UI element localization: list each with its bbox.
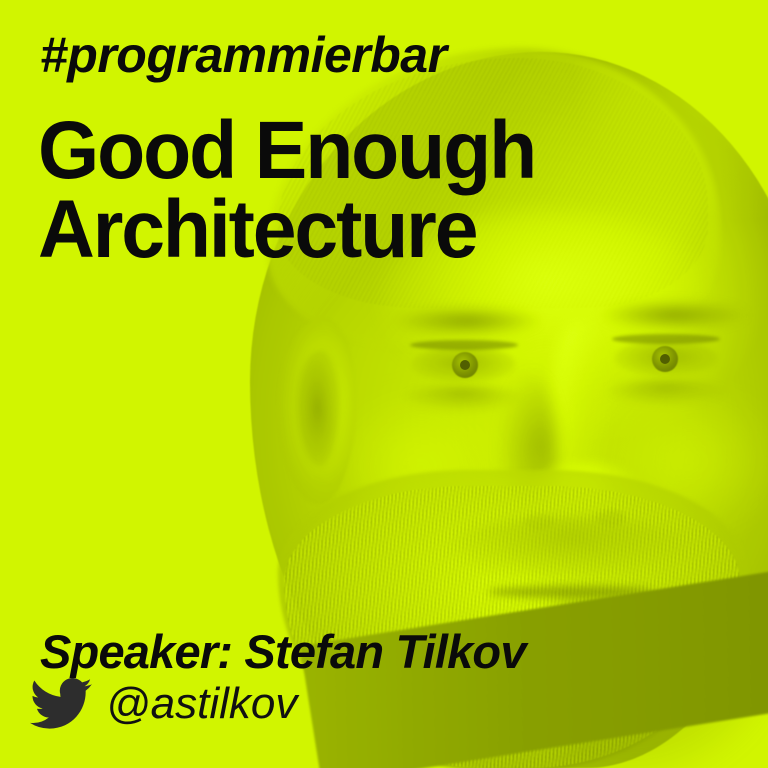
podcast-hashtag: #programmierbar bbox=[40, 26, 447, 84]
twitter-bird-icon bbox=[30, 678, 92, 730]
text-overlay: #programmierbar Good Enough Architecture… bbox=[0, 0, 768, 768]
speaker-label: Speaker: Stefan Tilkov bbox=[40, 624, 526, 679]
episode-title: Good Enough Architecture bbox=[38, 112, 535, 269]
podcast-episode-cover: #programmierbar Good Enough Architecture… bbox=[0, 0, 768, 768]
twitter-handle: @astilkov bbox=[106, 679, 297, 729]
twitter-handle-row: @astilkov bbox=[30, 678, 297, 730]
